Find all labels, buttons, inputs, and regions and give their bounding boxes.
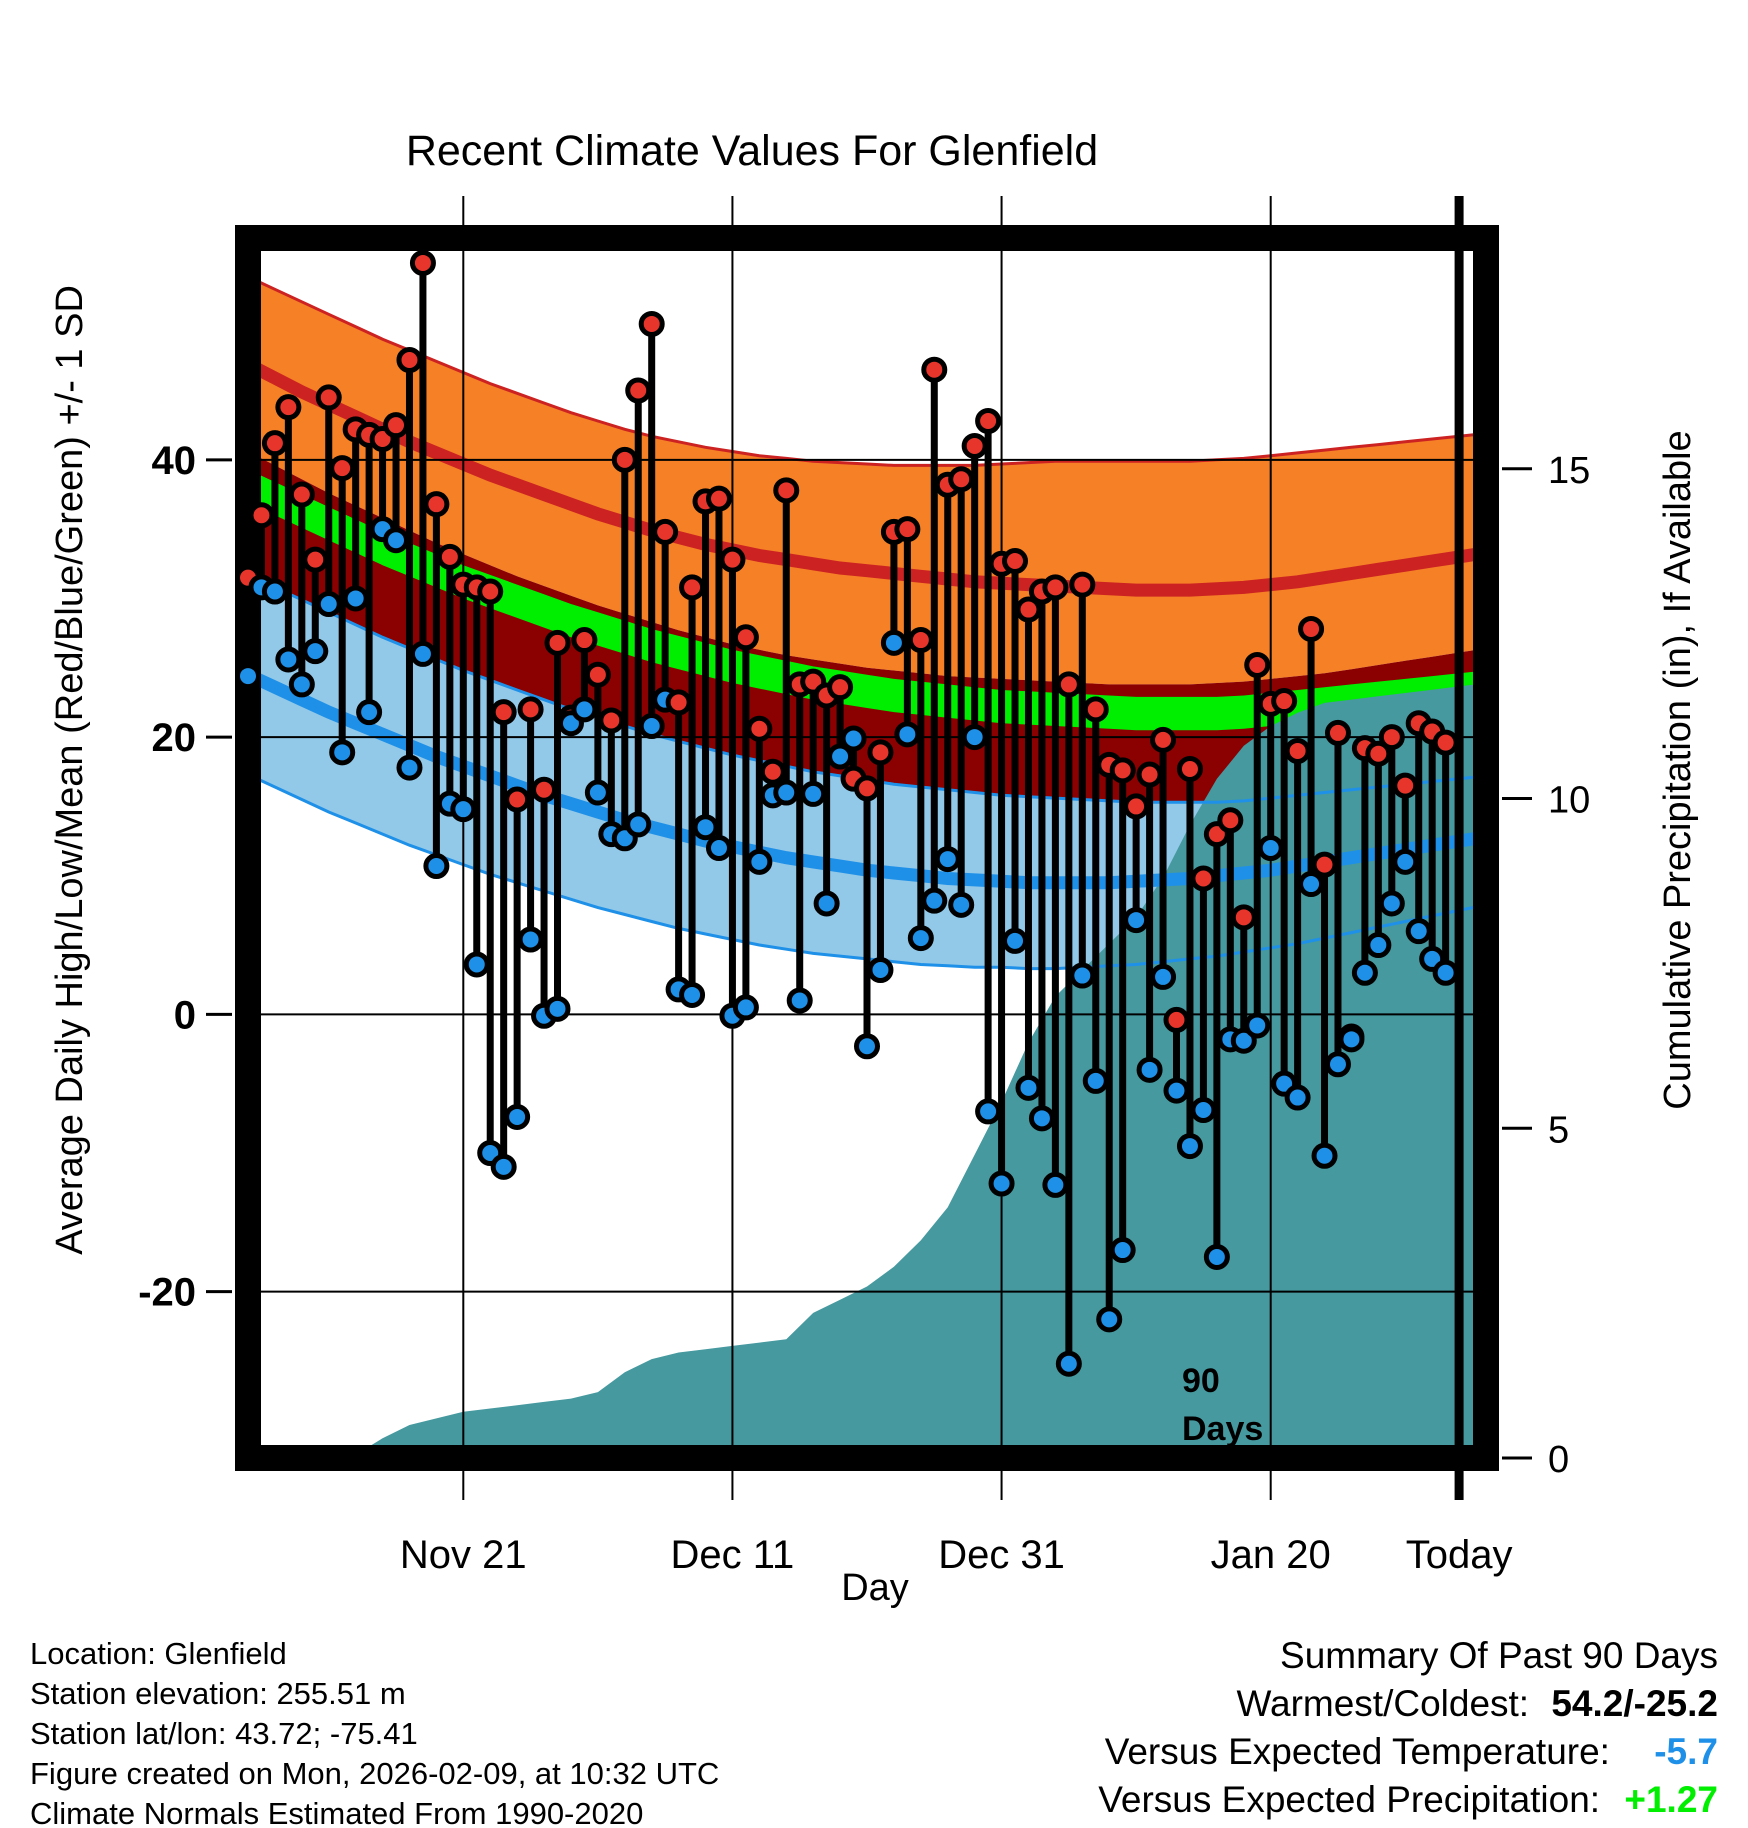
warmest-coldest-row: Warmest/Coldest: 54.2/-25.2 bbox=[1236, 1683, 1718, 1724]
high-temp-marker bbox=[897, 519, 918, 540]
low-temp-marker bbox=[1247, 1015, 1268, 1036]
low-temp-marker bbox=[466, 954, 487, 975]
high-temp-marker bbox=[251, 505, 272, 526]
warmest-coldest-label: Warmest/Coldest: bbox=[1236, 1683, 1529, 1724]
low-temp-marker bbox=[305, 641, 326, 662]
high-temp-marker bbox=[668, 692, 689, 713]
low-temp-marker bbox=[1368, 935, 1389, 956]
low-temp-marker bbox=[1206, 1246, 1227, 1267]
low-temp-marker bbox=[1435, 962, 1456, 983]
low-temp-marker bbox=[883, 632, 904, 653]
left-tick-label: -20 bbox=[138, 1271, 196, 1315]
footer-line: Location: Glenfield bbox=[30, 1636, 287, 1671]
low-temp-marker bbox=[1072, 965, 1093, 986]
low-temp-marker bbox=[520, 929, 541, 950]
low-temp-marker bbox=[695, 817, 716, 838]
low-temp-marker bbox=[857, 1036, 878, 1057]
high-temp-marker bbox=[628, 380, 649, 401]
footer-line: Station elevation: 255.51 m bbox=[30, 1676, 406, 1711]
high-temp-marker bbox=[1327, 722, 1348, 743]
high-temp-marker bbox=[291, 484, 312, 505]
low-temp-marker bbox=[1005, 930, 1026, 951]
high-temp-marker bbox=[655, 521, 676, 542]
high-temp-marker bbox=[520, 699, 541, 720]
high-temp-marker bbox=[910, 630, 931, 651]
high-temp-marker bbox=[951, 469, 972, 490]
high-temp-marker bbox=[1085, 699, 1106, 720]
low-temp-marker bbox=[332, 742, 353, 763]
high-temp-marker bbox=[1005, 551, 1026, 572]
low-temp-marker bbox=[951, 894, 972, 915]
high-temp-marker bbox=[439, 546, 460, 567]
right-tick-label: 0 bbox=[1548, 1439, 1569, 1481]
high-temp-marker bbox=[978, 411, 999, 432]
high-temp-marker bbox=[857, 778, 878, 799]
low-temp-marker bbox=[708, 838, 729, 859]
low-temp-marker bbox=[1179, 1136, 1200, 1157]
high-temp-marker bbox=[574, 630, 595, 651]
x-tick-label: Jan 20 bbox=[1211, 1533, 1331, 1577]
high-temp-marker bbox=[278, 397, 299, 418]
low-temp-marker bbox=[1139, 1059, 1160, 1080]
low-temp-marker bbox=[359, 702, 380, 723]
low-temp-marker bbox=[978, 1101, 999, 1122]
low-temp-marker bbox=[789, 990, 810, 1011]
x-tick-label: Dec 11 bbox=[671, 1533, 795, 1577]
low-temp-marker bbox=[1327, 1054, 1348, 1075]
low-temp-marker bbox=[803, 783, 824, 804]
left-axis-title: Average Daily High/Low/Mean (Red/Blue/Gr… bbox=[49, 285, 91, 1255]
low-temp-marker bbox=[1018, 1077, 1039, 1098]
low-temp-marker bbox=[1301, 874, 1322, 895]
high-temp-marker bbox=[1314, 854, 1335, 875]
x-tick-label: Nov 21 bbox=[400, 1533, 527, 1577]
low-temp-marker bbox=[238, 666, 259, 687]
high-temp-marker bbox=[426, 494, 447, 515]
high-temp-marker bbox=[708, 488, 729, 509]
high-temp-marker bbox=[1072, 574, 1093, 595]
high-temp-marker bbox=[682, 577, 703, 598]
low-temp-marker bbox=[1153, 966, 1174, 987]
high-temp-marker bbox=[480, 581, 501, 602]
low-temp-marker bbox=[776, 782, 797, 803]
high-temp-marker bbox=[534, 779, 555, 800]
low-temp-marker bbox=[749, 851, 770, 872]
climate-figure: Recent Climate Values For Glenfield Aver… bbox=[0, 0, 1748, 1828]
low-temp-marker bbox=[1314, 1145, 1335, 1166]
low-temp-marker bbox=[426, 856, 447, 877]
low-temp-marker bbox=[453, 799, 474, 820]
footer-line: Figure created on Mon, 2026-02-09, at 10… bbox=[30, 1756, 719, 1791]
versus-precipitation-row: Versus Expected Precipitation: +1.27 bbox=[1098, 1779, 1718, 1820]
high-temp-marker bbox=[776, 480, 797, 501]
high-temp-marker bbox=[1301, 618, 1322, 639]
low-temp-marker bbox=[547, 998, 568, 1019]
low-temp-marker bbox=[735, 997, 756, 1018]
window-annotation-line: 90 bbox=[1182, 1362, 1220, 1400]
high-temp-marker bbox=[493, 702, 514, 723]
high-temp-marker bbox=[964, 435, 985, 456]
high-temp-marker bbox=[399, 350, 420, 371]
low-temp-marker bbox=[1341, 1029, 1362, 1050]
low-temp-marker bbox=[1045, 1174, 1066, 1195]
low-temp-marker bbox=[628, 814, 649, 835]
low-temp-marker bbox=[386, 530, 407, 551]
low-temp-marker bbox=[1260, 838, 1281, 859]
high-temp-marker bbox=[1274, 691, 1295, 712]
low-temp-marker bbox=[587, 782, 608, 803]
high-temp-marker bbox=[1126, 796, 1147, 817]
x-tick-label: Dec 31 bbox=[938, 1533, 1065, 1577]
low-temp-marker bbox=[399, 757, 420, 778]
climate-chart-page: Recent Climate Values For Glenfield Aver… bbox=[0, 0, 1748, 1828]
low-temp-marker bbox=[897, 724, 918, 745]
low-temp-marker bbox=[682, 984, 703, 1005]
x-axis-title: Day bbox=[841, 1567, 909, 1609]
warmest-coldest-value: 54.2/-25.2 bbox=[1551, 1683, 1718, 1724]
high-temp-marker bbox=[614, 449, 635, 470]
low-temp-marker bbox=[1099, 1309, 1120, 1330]
high-temp-marker bbox=[1395, 775, 1416, 796]
window-annotation-line: Days bbox=[1182, 1410, 1263, 1448]
high-temp-marker bbox=[1247, 655, 1268, 676]
high-temp-marker bbox=[386, 415, 407, 436]
high-temp-marker bbox=[412, 252, 433, 273]
low-temp-marker bbox=[1408, 921, 1429, 942]
low-temp-marker bbox=[964, 727, 985, 748]
low-temp-marker bbox=[1354, 962, 1375, 983]
right-tick-label: 10 bbox=[1548, 780, 1590, 822]
left-tick-label: 40 bbox=[152, 439, 197, 483]
high-temp-marker bbox=[264, 433, 285, 454]
low-temp-marker bbox=[318, 594, 339, 615]
high-temp-marker bbox=[1179, 758, 1200, 779]
high-temp-marker bbox=[762, 761, 783, 782]
high-temp-marker bbox=[830, 677, 851, 698]
low-temp-marker bbox=[937, 849, 958, 870]
low-temp-marker bbox=[412, 643, 433, 664]
high-temp-marker bbox=[1045, 577, 1066, 598]
footer-line: Station lat/lon: 43.72; -75.41 bbox=[30, 1716, 418, 1751]
low-temp-marker bbox=[1031, 1108, 1052, 1129]
low-temp-marker bbox=[843, 728, 864, 749]
high-temp-marker bbox=[924, 359, 945, 380]
low-temp-marker bbox=[1381, 893, 1402, 914]
right-tick-label: 5 bbox=[1548, 1109, 1569, 1151]
high-temp-marker bbox=[1381, 727, 1402, 748]
high-temp-marker bbox=[1220, 810, 1241, 831]
low-temp-marker bbox=[1166, 1080, 1187, 1101]
low-temp-marker bbox=[870, 960, 891, 981]
high-temp-marker bbox=[749, 718, 770, 739]
summary-heading: Summary Of Past 90 Days bbox=[1280, 1635, 1718, 1676]
high-temp-marker bbox=[587, 664, 608, 685]
low-temp-marker bbox=[1193, 1100, 1214, 1121]
footer-line: Climate Normals Estimated From 1990-2020 bbox=[30, 1796, 643, 1828]
high-temp-marker bbox=[601, 710, 622, 731]
high-temp-marker bbox=[722, 549, 743, 570]
low-temp-marker bbox=[493, 1156, 514, 1177]
low-temp-marker bbox=[924, 890, 945, 911]
high-temp-marker bbox=[1153, 729, 1174, 750]
low-temp-marker bbox=[816, 893, 837, 914]
right-tick-label: 15 bbox=[1548, 450, 1590, 492]
high-temp-marker bbox=[547, 632, 568, 653]
low-temp-marker bbox=[1126, 910, 1147, 931]
low-temp-marker bbox=[264, 581, 285, 602]
low-temp-marker bbox=[910, 928, 931, 949]
low-temp-marker bbox=[1395, 851, 1416, 872]
low-temp-marker bbox=[278, 649, 299, 670]
high-temp-marker bbox=[332, 458, 353, 479]
low-temp-marker bbox=[345, 588, 366, 609]
low-temp-marker bbox=[574, 699, 595, 720]
high-temp-marker bbox=[507, 789, 528, 810]
high-temp-marker bbox=[870, 742, 891, 763]
right-axis-title: Cumulative Precipitation (in), If Availa… bbox=[1657, 430, 1699, 1109]
versus-temperature-value: -5.7 bbox=[1654, 1731, 1718, 1772]
x-tick-label: Today bbox=[1406, 1533, 1513, 1577]
high-temp-marker bbox=[1058, 674, 1079, 695]
high-temp-marker bbox=[641, 313, 662, 334]
left-tick-label: 0 bbox=[174, 993, 196, 1037]
low-temp-marker bbox=[1287, 1087, 1308, 1108]
page-title: Recent Climate Values For Glenfield bbox=[406, 127, 1098, 175]
high-temp-marker bbox=[305, 549, 326, 570]
left-tick-label: 20 bbox=[152, 716, 197, 760]
high-temp-marker bbox=[1287, 740, 1308, 761]
high-temp-marker bbox=[1233, 907, 1254, 928]
high-temp-marker bbox=[1139, 764, 1160, 785]
versus-precipitation-label: Versus Expected Precipitation: bbox=[1098, 1779, 1600, 1820]
high-temp-marker bbox=[735, 627, 756, 648]
low-temp-marker bbox=[1112, 1240, 1133, 1261]
high-temp-marker bbox=[1193, 868, 1214, 889]
high-temp-marker bbox=[1435, 732, 1456, 753]
low-temp-marker bbox=[641, 716, 662, 737]
high-temp-marker bbox=[1112, 760, 1133, 781]
low-temp-marker bbox=[291, 674, 312, 695]
high-temp-marker bbox=[318, 387, 339, 408]
low-temp-marker bbox=[1058, 1353, 1079, 1374]
versus-precipitation-value: +1.27 bbox=[1624, 1779, 1718, 1820]
low-temp-marker bbox=[991, 1173, 1012, 1194]
low-temp-marker bbox=[1085, 1070, 1106, 1091]
high-temp-marker bbox=[1166, 1009, 1187, 1030]
low-temp-marker bbox=[507, 1106, 528, 1127]
versus-temperature-label: Versus Expected Temperature: bbox=[1105, 1731, 1610, 1772]
